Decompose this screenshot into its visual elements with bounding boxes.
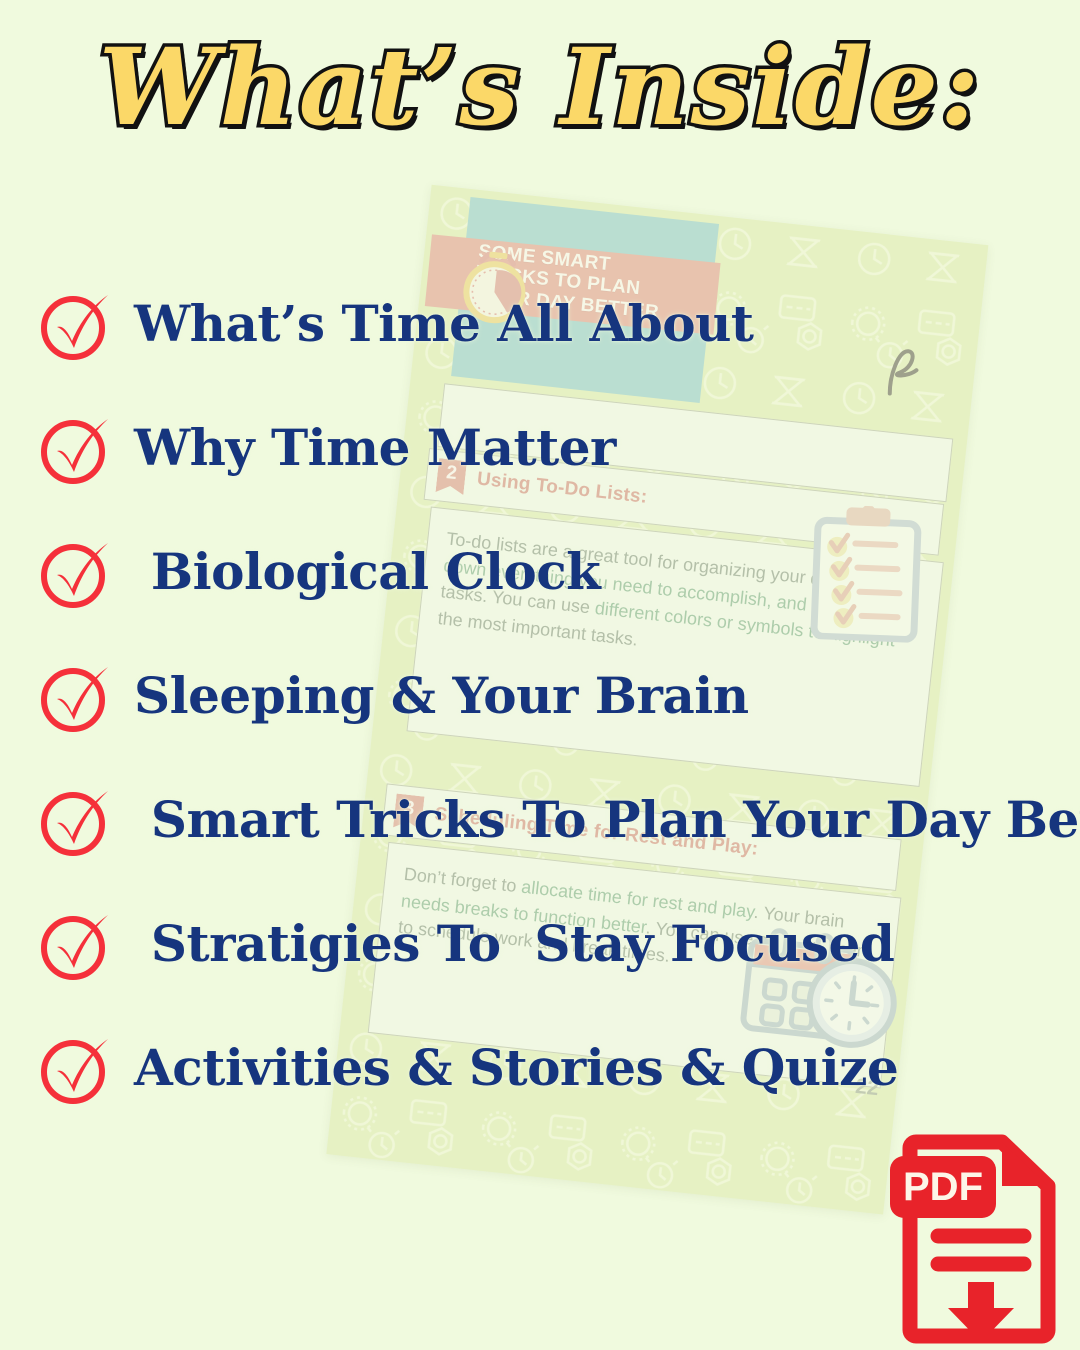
- list-item: Biological Clock: [36, 510, 1046, 634]
- list-item-label: Why Time Matter: [134, 423, 616, 473]
- list-item: Activities & Stories & Quize: [36, 1006, 1046, 1130]
- check-circle-icon: [36, 904, 116, 984]
- list-item: Sleeping & Your Brain: [36, 634, 1046, 758]
- list-item-label: Smart Tricks To Plan Your Day Better: [134, 795, 1080, 845]
- check-circle-icon: [36, 284, 116, 364]
- list-item: Smart Tricks To Plan Your Day Better: [36, 758, 1046, 882]
- pdf-badge-label: PDF: [903, 1165, 983, 1209]
- list-item-label: Stratigies To Stay Focused: [134, 919, 894, 969]
- check-circle-icon: [36, 1028, 116, 1108]
- check-circle-icon: [36, 532, 116, 612]
- whats-inside-list: What’s Time All About Why Time Matter Bi…: [36, 262, 1046, 1130]
- check-circle-icon: [36, 656, 116, 736]
- document-text-lines: [938, 1236, 1024, 1264]
- poster-canvas: SOME SMART TRICKS TO PLAN YOUR DAY BETTE…: [0, 0, 1080, 1350]
- check-circle-icon: [36, 408, 116, 488]
- list-item-label: Sleeping & Your Brain: [134, 671, 749, 721]
- list-item-label: What’s Time All About: [134, 299, 754, 349]
- page-title: What’s Inside:: [0, 24, 1080, 149]
- check-circle-icon: [36, 780, 116, 860]
- pdf-download-icon[interactable]: PDF: [890, 1130, 1070, 1345]
- list-item-label: Activities & Stories & Quize: [134, 1043, 898, 1093]
- list-item: Why Time Matter: [36, 386, 1046, 510]
- list-item: Stratigies To Stay Focused: [36, 882, 1046, 1006]
- list-item: What’s Time All About: [36, 262, 1046, 386]
- list-item-label: Biological Clock: [134, 547, 600, 597]
